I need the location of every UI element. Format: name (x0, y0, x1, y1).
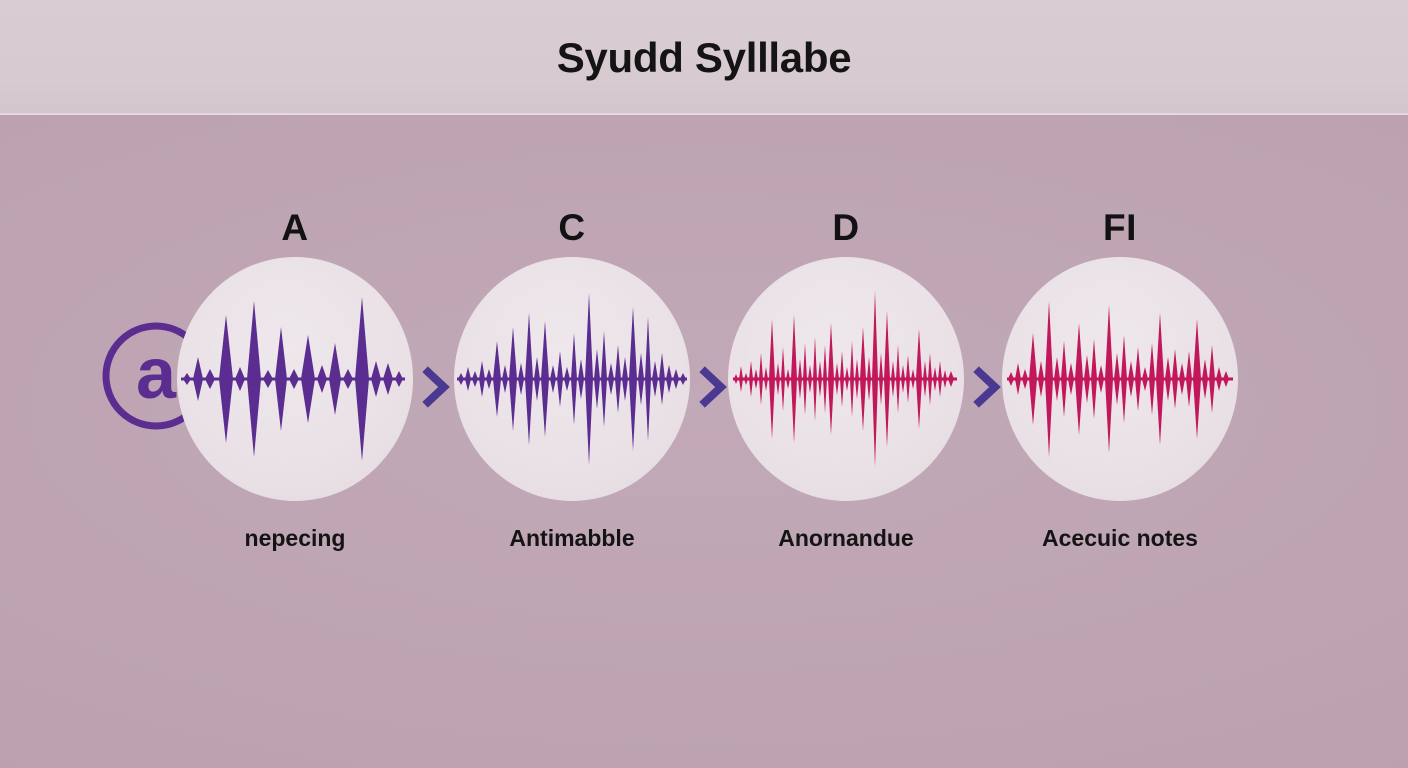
audio-waveform-icon (733, 291, 957, 467)
stage-flow: a A (0, 115, 1408, 768)
chevron-right-icon-2 (698, 366, 728, 408)
stage-caption-2: Antimabble (424, 525, 720, 552)
stage-disc-4 (1002, 257, 1238, 501)
stage-caption-1: nepecing (147, 525, 443, 552)
stage-letter-1: A (177, 209, 413, 246)
page-title: Syudd Sylllabe (0, 0, 1408, 115)
stage-node-3[interactable]: D (728, 115, 964, 535)
stage-disc-3 (728, 257, 964, 501)
stage-letter-4: FI (1002, 209, 1238, 246)
diagram-canvas: Syudd Sylllabe a A (0, 0, 1408, 768)
stage-caption-4: Acecuic notes (972, 525, 1268, 552)
stage-letter-3: D (728, 209, 964, 246)
stage-caption-3: Anornandue (698, 525, 994, 552)
stage-disc-1 (177, 257, 413, 501)
stage-letter-2: C (454, 209, 690, 246)
audio-waveform-icon (1007, 301, 1233, 457)
stage-node-4[interactable]: FI (1002, 115, 1238, 535)
svg-text:a: a (136, 334, 177, 414)
audio-waveform-icon (181, 297, 405, 461)
audio-waveform-icon (457, 293, 687, 465)
chevron-right-icon-3 (972, 366, 1002, 408)
chevron-right-icon-1 (421, 366, 451, 408)
stage-node-2[interactable]: C (454, 115, 690, 535)
stage-node-1[interactable]: A (177, 115, 413, 535)
stage-disc-2 (454, 257, 690, 501)
